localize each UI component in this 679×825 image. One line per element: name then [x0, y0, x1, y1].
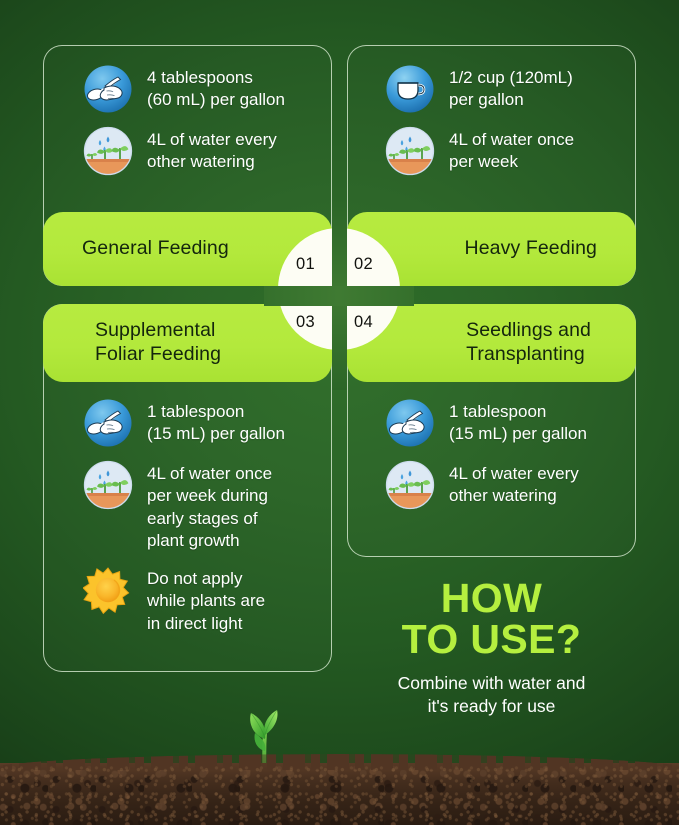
- watering-seedlings-icon: [385, 460, 435, 510]
- soil-ground-strip: [0, 763, 679, 825]
- measuring-cup-icon: [385, 64, 435, 114]
- hand-with-spoon-icon: [83, 398, 133, 448]
- quadrant-4-rows: 1 tablespoon (15 mL) per gallon: [385, 398, 625, 510]
- instruction-text: 4L of water once per week: [449, 126, 574, 174]
- quadrant-title: Supplemental Foliar Feeding: [95, 319, 221, 367]
- quadrant-2-rows: 1/2 cup (120mL) per gallon: [385, 64, 625, 176]
- instruction-row: 1 tablespoon (15 mL) per gallon: [83, 398, 323, 448]
- how-to-use-line-1: HOW: [347, 578, 636, 619]
- step-number-04: 04: [354, 313, 373, 332]
- instruction-row: 4L of water once per week: [385, 126, 625, 176]
- how-to-use-subtitle: Combine with water and it's ready for us…: [347, 672, 636, 717]
- instruction-row: 4L of water every other watering: [385, 460, 625, 510]
- quadrant-title: Seedlings and Transplanting: [466, 319, 591, 367]
- quadrant-1-rows: 4 tablespoons (60 mL) per gallon: [83, 64, 323, 176]
- watering-seedlings-icon: [83, 126, 133, 176]
- instruction-row: 4 tablespoons (60 mL) per gallon: [83, 64, 323, 114]
- quadrant-title: Heavy Feeding: [465, 237, 597, 261]
- instruction-row: 4L of water once per week during early s…: [83, 460, 323, 553]
- instruction-row: 4L of water every other watering: [83, 126, 323, 176]
- instruction-text: 4L of water every other watering: [449, 460, 579, 508]
- instruction-row: 1/2 cup (120mL) per gallon: [385, 64, 625, 114]
- infographic-poster: 4 tablespoons (60 mL) per gallon: [0, 0, 679, 825]
- instruction-row: Do not apply while plants are in direct …: [83, 565, 323, 635]
- quadrant-3-rows: 1 tablespoon (15 mL) per gallon: [83, 398, 323, 635]
- instruction-text: 1 tablespoon (15 mL) per gallon: [147, 398, 285, 446]
- instruction-text: 4L of water once per week during early s…: [147, 460, 272, 553]
- instruction-text: Do not apply while plants are in direct …: [147, 565, 265, 635]
- step-number-03: 03: [296, 313, 315, 332]
- instruction-row: 1 tablespoon (15 mL) per gallon: [385, 398, 625, 448]
- watering-seedlings-icon: [83, 460, 133, 510]
- soil-texture: [0, 763, 679, 825]
- how-to-use-line-2: TO USE?: [347, 619, 636, 660]
- instruction-text: 1/2 cup (120mL) per gallon: [449, 64, 573, 112]
- instruction-text: 4 tablespoons (60 mL) per gallon: [147, 64, 285, 112]
- how-to-use-block: HOW TO USE? Combine with water and it's …: [347, 578, 636, 717]
- hand-with-spoon-icon: [385, 398, 435, 448]
- instruction-text: 1 tablespoon (15 mL) per gallon: [449, 398, 587, 446]
- hand-with-spoon-icon: [83, 64, 133, 114]
- step-number-02: 02: [354, 255, 373, 274]
- center-divider-horizontal: [264, 286, 414, 306]
- sun-icon: [83, 565, 133, 615]
- instruction-text: 4L of water every other watering: [147, 126, 277, 174]
- step-number-01: 01: [296, 255, 315, 274]
- quadrant-title: General Feeding: [82, 237, 229, 261]
- watering-seedlings-icon: [385, 126, 435, 176]
